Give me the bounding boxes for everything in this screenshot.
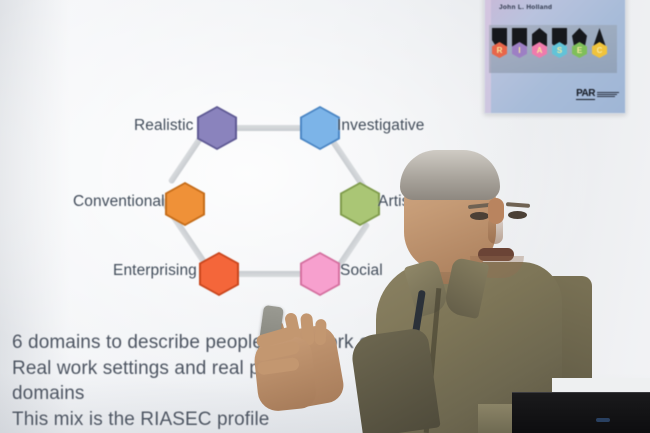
speaker-finger-4 <box>315 319 327 345</box>
speaker-arm-left <box>349 327 440 433</box>
speaker-brow-right <box>506 202 530 208</box>
screenshot-root: Realistic Investigative Artistic Social … <box>0 0 650 433</box>
par-logo-lines <box>597 92 619 98</box>
speaker-ear <box>488 198 504 224</box>
hexagon-fill-enterprising <box>201 254 237 294</box>
speaker-hand-holding-clicker <box>252 335 317 413</box>
book-riasec-glyph-row: R I A S E C <box>492 26 616 72</box>
publisher-logo: PAR <box>576 89 619 100</box>
hexagon-label-investigative: Investigative <box>337 117 424 135</box>
par-logo-text: PAR <box>576 89 595 100</box>
speaker-brow-left <box>468 203 490 209</box>
monitor-screen <box>512 392 650 433</box>
speaker-hair <box>400 150 500 200</box>
speaker-eye-left <box>470 212 489 220</box>
hexagon-label-enterprising: Enterprising <box>113 262 197 280</box>
hexagon-fill-social <box>302 254 338 294</box>
hexagon-label-conventional: Conventional <box>73 193 165 211</box>
hexagon-node-social[interactable] <box>300 252 340 296</box>
hexagon-fill-conventional <box>167 184 203 224</box>
speaker-eye-right <box>508 211 527 219</box>
hexagon-label-realistic: Realistic <box>134 117 193 135</box>
book-author-name: John L. Holland <box>499 4 552 11</box>
hexagon-fill-investigative <box>302 108 338 148</box>
monitor-indicator-light <box>596 418 610 422</box>
hexagon-fill-realistic <box>199 108 235 148</box>
book-cover-image: John L. Holland R I A S E C PAR <box>484 0 626 114</box>
hexagon-node-realistic[interactable] <box>197 106 237 150</box>
